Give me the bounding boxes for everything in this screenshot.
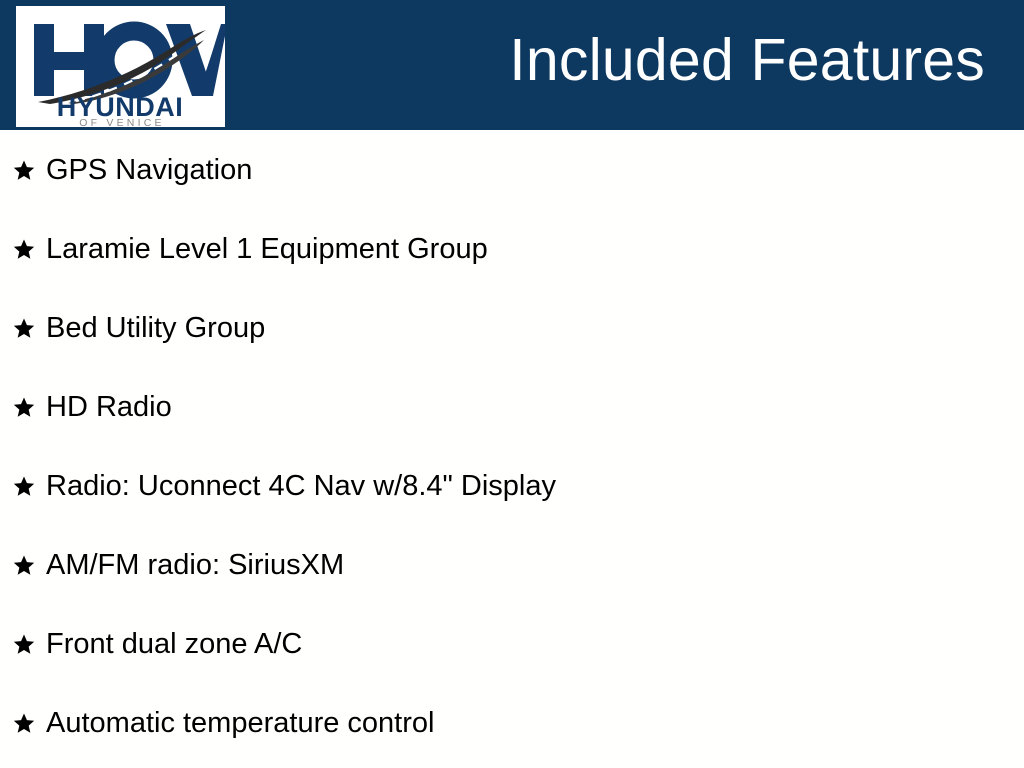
list-item: AM/FM radio: SiriusXM [0,525,1024,604]
list-item-label: Bed Utility Group [46,311,265,345]
star-icon [13,633,35,655]
list-item: HD Radio [0,367,1024,446]
star-icon [13,159,35,181]
dealer-logo: HYUNDAI OF VENICE [16,6,225,127]
list-item-label: HD Radio [46,390,172,424]
svg-text:OF VENICE: OF VENICE [79,117,164,127]
list-item-label: AM/FM radio: SiriusXM [46,548,344,582]
page-title: Included Features [509,24,985,96]
included-features-list: GPS Navigation Laramie Level 1 Equipment… [0,130,1024,762]
star-icon [13,317,35,339]
list-item-label: Front dual zone A/C [46,627,302,661]
list-item-label: Radio: Uconnect 4C Nav w/8.4" Display [46,469,556,503]
list-item-label: Automatic temperature control [46,706,434,740]
list-item: Radio: Uconnect 4C Nav w/8.4" Display [0,446,1024,525]
star-icon [13,475,35,497]
list-item: Front dual zone A/C [0,604,1024,683]
list-item: Laramie Level 1 Equipment Group [0,209,1024,288]
star-icon [13,396,35,418]
star-icon [13,712,35,734]
list-item: Automatic temperature control [0,683,1024,762]
hov-hyundai-of-venice-logo-icon: HYUNDAI OF VENICE [16,6,225,127]
list-item: GPS Navigation [0,130,1024,209]
list-item-label: Laramie Level 1 Equipment Group [46,232,488,266]
star-icon [13,238,35,260]
star-icon [13,554,35,576]
list-item: Bed Utility Group [0,288,1024,367]
list-item-label: GPS Navigation [46,153,252,187]
